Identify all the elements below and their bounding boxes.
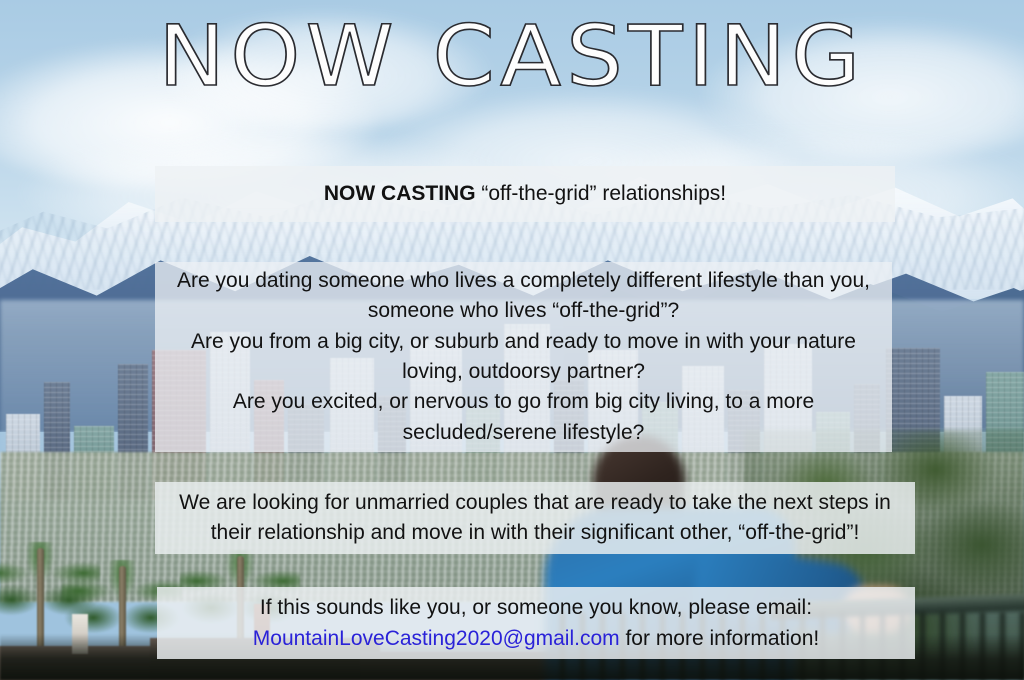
question-line: Are you from a big city, or suburb and r…	[177, 327, 870, 357]
subtitle-band: NOW CASTING “off-the-grid” relationships…	[155, 166, 895, 222]
question-line: Are you dating someone who lives a compl…	[163, 266, 884, 296]
email-link[interactable]: MountainLoveCasting2020@gmail.com	[253, 627, 620, 650]
looking-for-line: their relationship and move in with thei…	[201, 518, 870, 548]
looking-for-line: We are looking for unmarried couples tha…	[169, 488, 901, 518]
page-title: NOW CASTING	[0, 14, 1024, 98]
subtitle-text: NOW CASTING “off-the-grid” relationships…	[324, 182, 726, 206]
subtitle-rest: “off-the-grid” relationships!	[476, 182, 727, 205]
contact-band: If this sounds like you, or someone you …	[157, 587, 915, 659]
casting-flyer: NOW CASTING NOW CASTING “off-the-grid” r…	[0, 0, 1024, 680]
questions-band: Are you dating someone who lives a compl…	[155, 262, 892, 452]
question-line: someone who lives “off-the-grid”?	[354, 296, 693, 326]
looking-for-band: We are looking for unmarried couples tha…	[155, 482, 915, 554]
contact-email-line: MountainLoveCasting2020@gmail.com for mo…	[243, 623, 829, 655]
question-line: secluded/serene lifestyle?	[389, 418, 659, 448]
question-line: Are you excited, or nervous to go from b…	[219, 387, 828, 417]
question-line: loving, outdoorsy partner?	[388, 357, 659, 387]
contact-suffix: for more information!	[620, 627, 820, 650]
contact-instruction: If this sounds like you, or someone you …	[250, 592, 822, 624]
subtitle-bold: NOW CASTING	[324, 182, 476, 205]
